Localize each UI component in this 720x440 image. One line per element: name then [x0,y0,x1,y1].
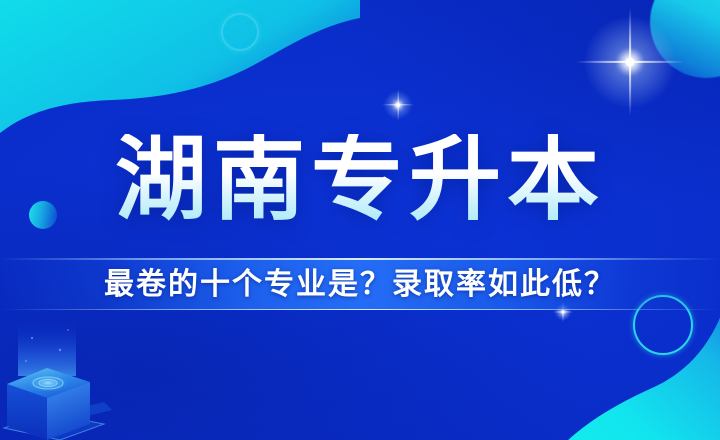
sparkle-core [626,58,635,67]
pedestal-cube-decoration [0,320,118,440]
sparkle-core [396,103,400,107]
ring-top-left-decoration [221,13,259,51]
page-title: 湖南专升本 [0,134,720,226]
sparkle-core [562,311,565,314]
promo-banner: 湖南专升本 最卷的十个专业是？录取率如此低？ [0,0,720,440]
subtitle-text: 最卷的十个专业是？录取率如此低？ [0,268,720,302]
